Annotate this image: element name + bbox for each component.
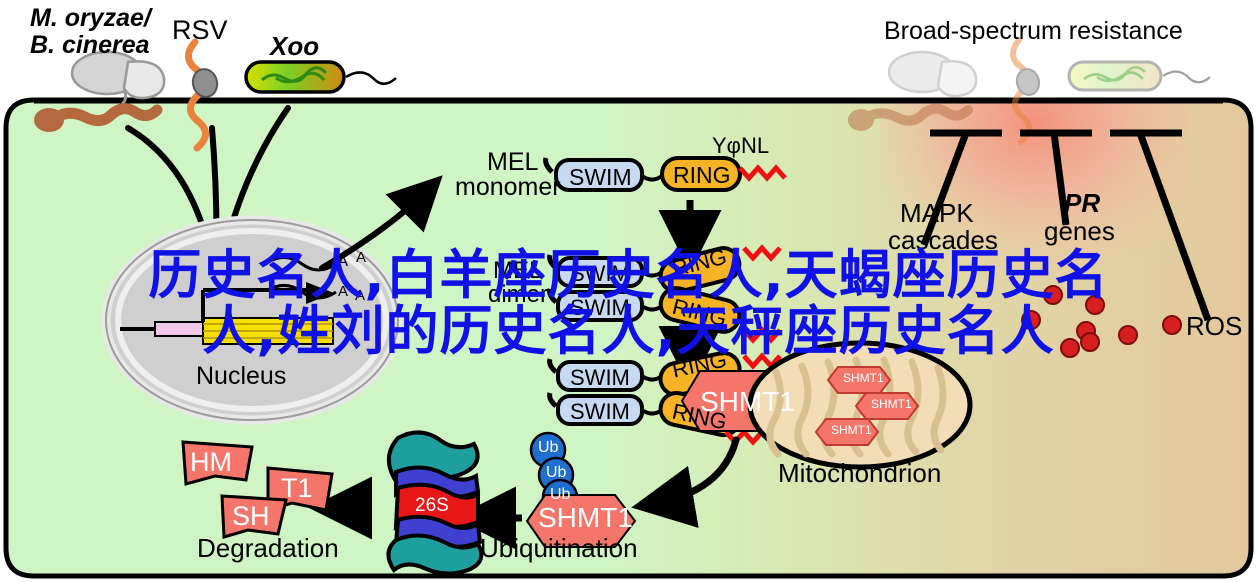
mitochondrion-label: Mitochondrion [778, 458, 941, 489]
shmt1-mito-label-3: SHMT1 [831, 423, 872, 437]
swim-domain-label-4: SWIM [570, 365, 630, 391]
xoo-bacterium-right [1069, 62, 1210, 90]
degradation-fragment-2-label: T1 [281, 473, 313, 504]
shmt1-mito-label-1: SHMT1 [843, 371, 884, 385]
pr-label-line1: PR [1064, 188, 1100, 219]
rsv-label: RSV [172, 15, 228, 46]
proteasome-26s-label: 26S [415, 495, 449, 517]
shmt1-bound-label: SHMT1 [700, 386, 795, 418]
ring-domain-label-1: RING [673, 162, 731, 189]
watermark-line-1: 历史名人,白羊座历史名人,天蝎座历史名 [0, 248, 1257, 304]
ub-label-1: Ub [538, 439, 558, 457]
xoo-bacterium-left [246, 62, 396, 92]
ynl-motif-label-1: YφNL [712, 133, 769, 159]
xoo-label: Xoo [270, 31, 319, 62]
nucleus-label: Nucleus [196, 362, 286, 391]
swim-domain-label-1: SWIM [569, 164, 632, 191]
degradation-fragment-3-label: SH [232, 501, 270, 532]
mel-monomer-label-line2: monomer [455, 173, 561, 202]
ubiquitination-label: Ubiquitination [480, 533, 638, 564]
fungus-spore-right [889, 52, 976, 96]
shmt1-ubiquitinated-label: SHMT1 [538, 502, 633, 534]
pr-label-line2: genes [1044, 216, 1115, 247]
figure-canvas: A A A A [0, 0, 1257, 582]
fungus-label-line2: B. cinerea [30, 31, 150, 60]
ub-label-2: Ub [546, 464, 566, 482]
fungus-label-line1: M. oryzae/ [30, 4, 151, 33]
broad-spectrum-resistance-label: Broad-spectrum resistance [884, 17, 1183, 46]
watermark-line-2: 人,姓刘的历史名人,天秤座历史名人 [0, 304, 1257, 360]
shmt1-mito-label-2: SHMT1 [871, 397, 912, 411]
degradation-fragment-1-label: HM [190, 447, 232, 478]
watermark-overlay: 历史名人,白羊座历史名人,天蝎座历史名 人,姓刘的历史名人,天秤座历史名人 [0, 248, 1257, 360]
degradation-label: Degradation [197, 533, 339, 564]
swim-domain-label-5: SWIM [570, 399, 630, 425]
